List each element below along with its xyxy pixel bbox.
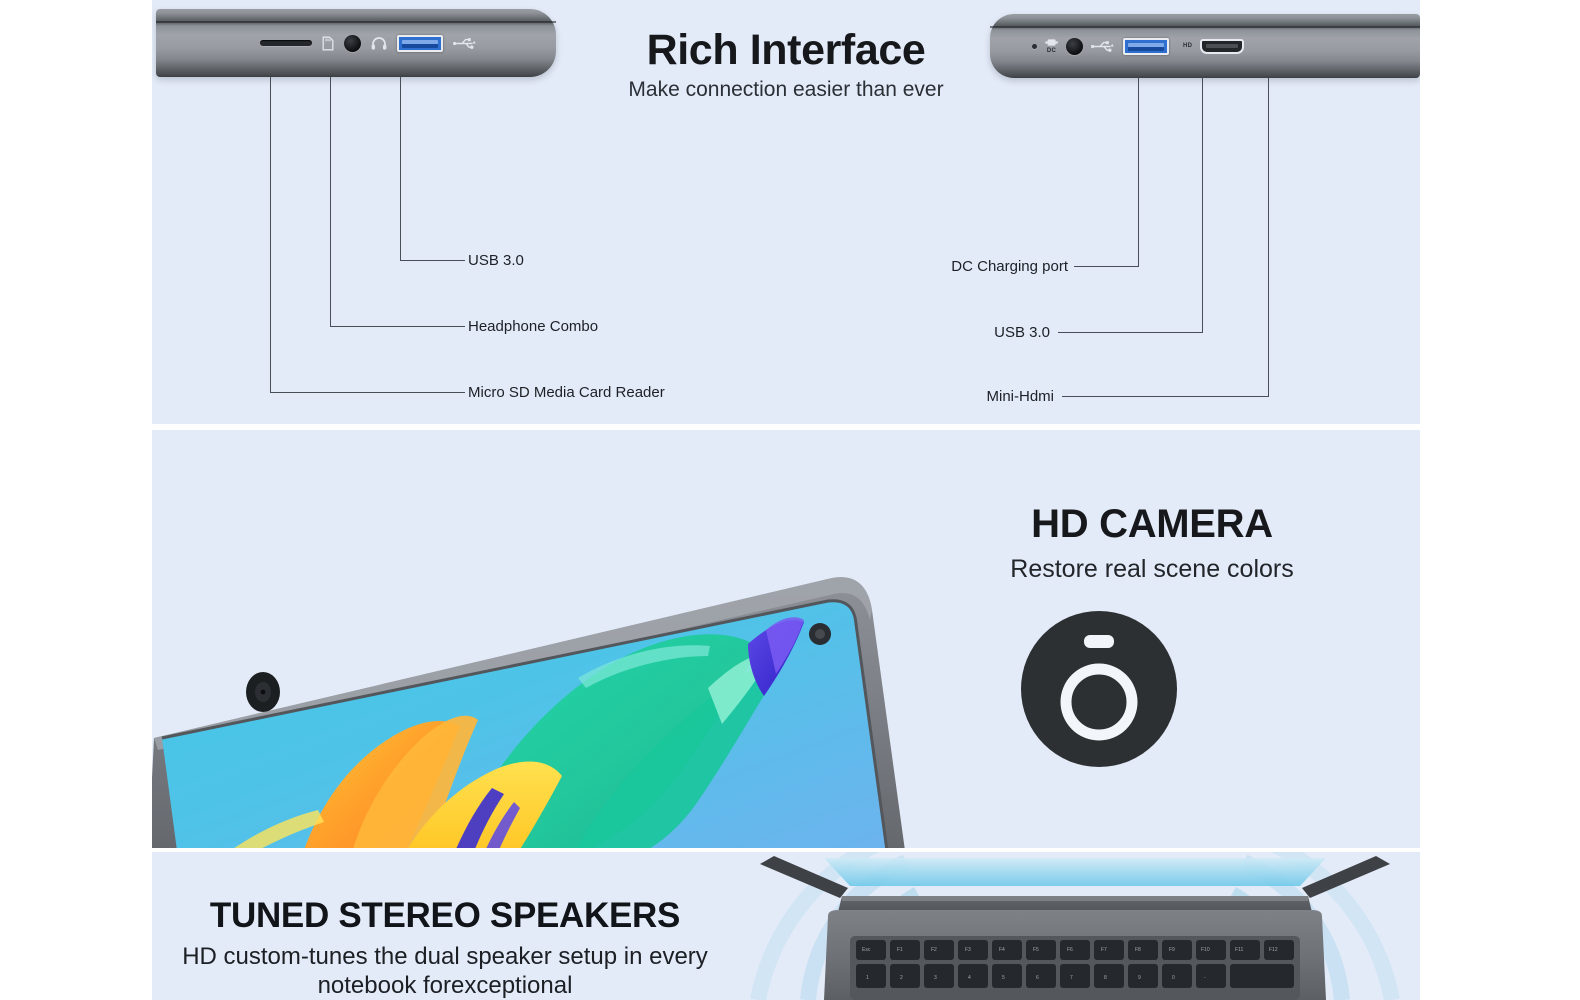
dc-plug-icon: DC [1045, 38, 1058, 54]
callout-usb3-left: USB 3.0 [468, 252, 524, 269]
svg-text:3: 3 [934, 975, 937, 981]
speakers-title: TUNED STEREO SPEAKERS [170, 896, 720, 936]
svg-text:F11: F11 [1235, 947, 1243, 953]
usb3-port [1123, 38, 1169, 55]
dc-barrel-jack-port [1066, 38, 1083, 55]
svg-text:F7: F7 [1101, 947, 1107, 953]
leader-line-microsd-h [270, 392, 465, 393]
headphone-icon [371, 37, 387, 50]
leader-line-usb3-left-v [400, 77, 401, 260]
left-port-row [260, 9, 477, 77]
section-rich-interface: Rich Interface Make connection easier th… [152, 0, 1420, 424]
svg-text:6: 6 [1036, 975, 1039, 981]
svg-text:F9: F9 [1169, 947, 1175, 953]
leader-line-headphone-v [330, 77, 331, 326]
callout-dc-charging: DC Charging port [812, 258, 1068, 275]
svg-text:F3: F3 [965, 947, 971, 953]
svg-text:F5: F5 [1033, 947, 1039, 953]
camera-subtitle: Restore real scene colors [942, 555, 1362, 584]
product-feature-page: Rich Interface Make connection easier th… [0, 0, 1580, 1000]
svg-text:7: 7 [1070, 975, 1073, 981]
right-port-row: DC HD [1032, 14, 1244, 78]
svg-text:F12: F12 [1269, 947, 1278, 953]
svg-text:F4: F4 [999, 947, 1005, 953]
svg-text:5: 5 [1002, 975, 1005, 981]
leader-line-dc-v [1138, 78, 1139, 266]
microsd-slot-icon [260, 40, 312, 46]
usb3-port [397, 35, 443, 52]
laptop-left-edge [156, 9, 556, 77]
svg-text:0: 0 [1172, 975, 1175, 981]
hdmi-label: HD [1183, 43, 1192, 49]
section-hd-camera: HD CAMERA Restore real scene colors [152, 430, 1420, 848]
svg-text:F1: F1 [897, 947, 903, 953]
page-subtitle: Make connection easier than ever [152, 78, 1420, 102]
callout-headphone: Headphone Combo [468, 318, 598, 335]
section-stereo-speakers: TUNED STEREO SPEAKERS HD custom-tunes th… [152, 852, 1420, 1000]
usb-trident-icon [1091, 40, 1115, 53]
camera-title: HD CAMERA [942, 502, 1362, 547]
svg-text:9: 9 [1138, 975, 1141, 981]
usb-trident-icon [453, 37, 477, 50]
svg-text:2: 2 [900, 975, 903, 981]
leader-line-usb3-right-h [1058, 332, 1203, 333]
leader-line-usb3-right-v [1202, 78, 1203, 332]
callout-mini-hdmi: Mini-Hdmi [812, 388, 1054, 405]
laptop-keyboard-photo: Esc F1 F2 F3 F4 F5 F6 F7 F8 F9 F10 F11 F… [730, 852, 1420, 1000]
svg-text:Esc: Esc [862, 947, 871, 953]
webcam-circle-icon [1020, 610, 1178, 768]
dc-label: DC [1047, 48, 1056, 54]
leader-line-hdmi-h [1062, 396, 1269, 397]
leader-line-headphone-h [330, 326, 465, 327]
power-led-indicator [1032, 44, 1037, 49]
callout-usb3-right: USB 3.0 [812, 324, 1050, 341]
laptop-right-edge: DC HD [990, 14, 1420, 78]
svg-text:F2: F2 [931, 947, 937, 953]
speakers-subtitle: HD custom-tunes the dual speaker setup i… [170, 942, 720, 1000]
svg-text:F10: F10 [1201, 947, 1210, 953]
mini-hdmi-port [1200, 39, 1244, 54]
leader-line-usb3-left-h [400, 260, 465, 261]
svg-text:F6: F6 [1067, 947, 1073, 953]
leader-line-hdmi-v [1268, 78, 1269, 396]
svg-text:1: 1 [866, 975, 869, 981]
laptop-screen-photo [152, 438, 908, 848]
headphone-jack-port [344, 35, 361, 52]
svg-text:F8: F8 [1135, 947, 1141, 953]
leader-line-microsd-v [270, 77, 271, 392]
callout-microsd: Micro SD Media Card Reader [468, 384, 665, 401]
leader-line-dc-h [1074, 266, 1139, 267]
sd-card-icon [322, 36, 334, 51]
svg-text:8: 8 [1104, 975, 1107, 981]
svg-text:4: 4 [968, 975, 971, 981]
